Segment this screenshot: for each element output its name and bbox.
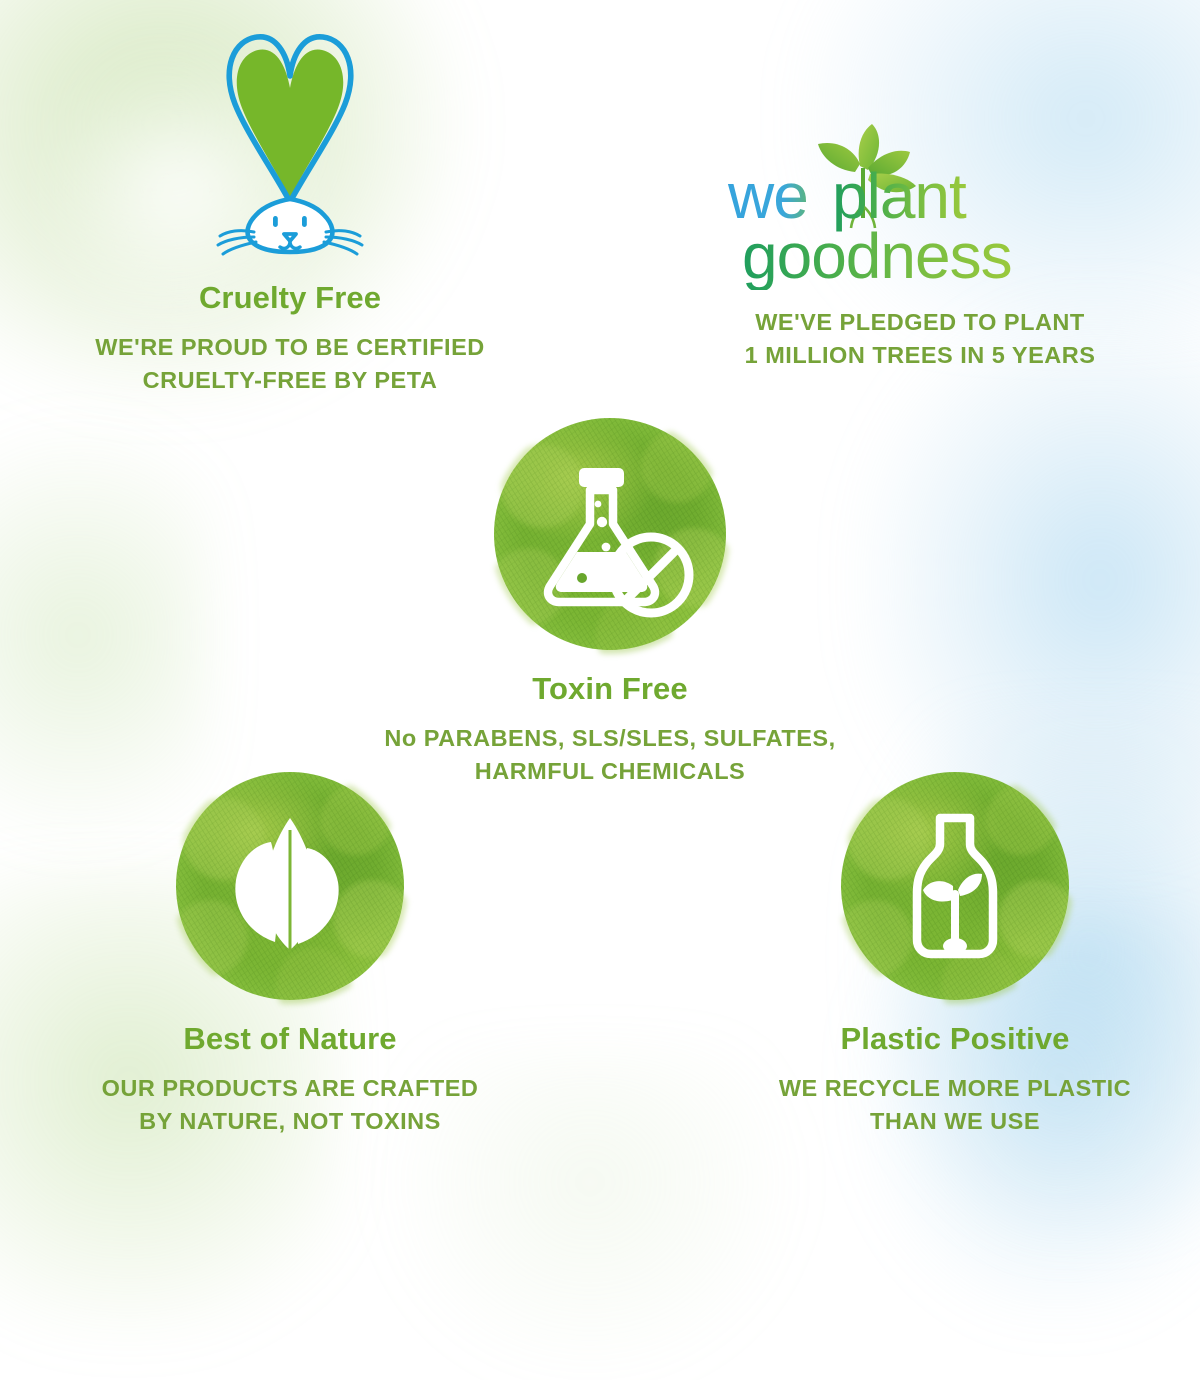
badge-desc-line-1: WE RECYCLE MORE PLASTIC (665, 1072, 1200, 1105)
badge-we-plant-goodness: we plant goodness WE'VE PLEDGED TO PLANT… (640, 110, 1200, 373)
badge-title-plastic-positive: Plastic Positive (665, 1022, 1200, 1056)
badge-title-toxin-free: Toxin Free (320, 672, 900, 706)
badge-title-cruelty-free: Cruelty Free (0, 281, 580, 315)
plastic-positive-badge-circle (841, 772, 1069, 1000)
badge-desc-line-1: WE'RE PROUD TO BE CERTIFIED (0, 331, 580, 364)
badge-toxin-free: Toxin Free No PARABENS, SLS/SLES, SULFAT… (320, 418, 900, 789)
badge-title-best-of-nature: Best of Nature (0, 1022, 580, 1056)
three-leaves-icon (176, 772, 404, 1000)
badge-desc-line-1: OUR PRODUCTS ARE CRAFTED (0, 1072, 580, 1105)
badge-desc-line-2: CRUELTY-FREE BY PETA (0, 364, 580, 397)
badge-best-of-nature: Best of Nature OUR PRODUCTS ARE CRAFTED … (0, 772, 580, 1139)
badge-desc-line-1: No PARABENS, SLS/SLES, SULFATES, (320, 722, 900, 755)
badge-grid: Cruelty Free WE'RE PROUD TO BE CERTIFIED… (0, 0, 1200, 1200)
svg-text:goodness: goodness (742, 220, 1012, 290)
peta-bunny-icon (190, 30, 390, 260)
badge-desc-line-2: THAN WE USE (665, 1105, 1200, 1138)
flask-prohibited-icon (494, 418, 726, 650)
bottle-sprout-icon (841, 772, 1069, 1000)
we-plant-goodness-logo: we plant goodness (720, 110, 1120, 290)
badge-plastic-positive: Plastic Positive WE RECYCLE MORE PLASTIC… (665, 772, 1200, 1139)
badge-desc-line-1: WE'VE PLEDGED TO PLANT (640, 306, 1200, 339)
badge-cruelty-free: Cruelty Free WE'RE PROUD TO BE CERTIFIED… (0, 30, 580, 398)
best-of-nature-badge-circle (176, 772, 404, 1000)
badge-desc-line-2: BY NATURE, NOT TOXINS (0, 1105, 580, 1138)
toxin-free-badge-circle (494, 418, 726, 650)
badge-desc-line-2: 1 MILLION TREES IN 5 YEARS (640, 339, 1200, 372)
